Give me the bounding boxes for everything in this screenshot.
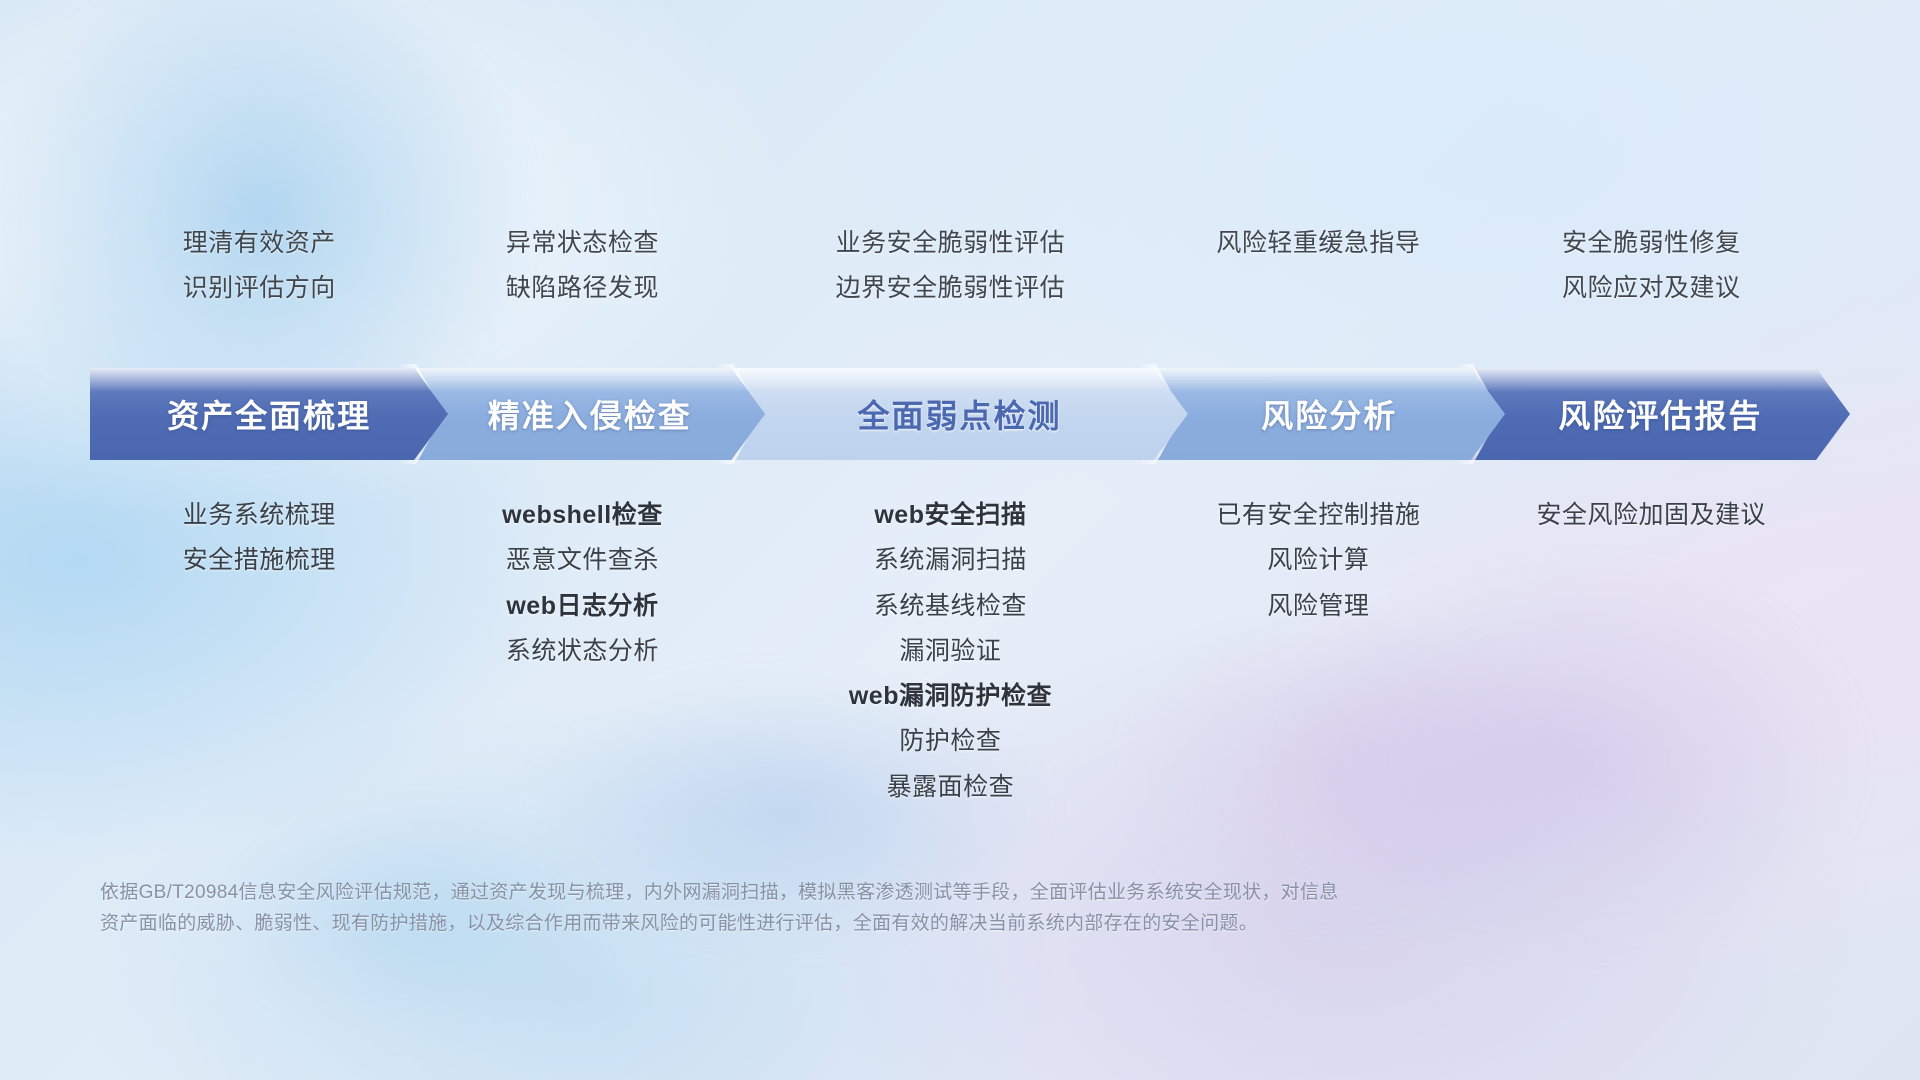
detail-list-item: 安全措施梳理 bbox=[183, 545, 336, 576]
detail-list-item: 恶意文件查杀 bbox=[506, 545, 659, 576]
detail-list-column: 安全风险加固及建议 bbox=[1478, 500, 1824, 531]
detail-list-column: 业务系统梳理安全措施梳理 bbox=[96, 500, 422, 577]
detail-list-item: 业务系统梳理 bbox=[183, 500, 336, 531]
detail-list-item: web漏洞防护检查 bbox=[849, 681, 1052, 712]
top-note-line: 理清有效资产 bbox=[183, 228, 336, 259]
footer-line-1: 依据GB/T20984信息安全风险评估规范，通过资产发现与梳理，内外网漏洞扫描，… bbox=[100, 878, 1640, 909]
top-note-line: 异常状态检查 bbox=[506, 228, 659, 259]
diagram-content: 理清有效资产识别评估方向异常状态检查缺陷路径发现业务安全脆弱性评估边界安全脆弱性… bbox=[0, 0, 1920, 1080]
detail-list-item: web日志分析 bbox=[506, 591, 658, 622]
detail-list-item: 系统漏洞扫描 bbox=[874, 545, 1027, 576]
detail-list-item: 已有安全控制措施 bbox=[1216, 500, 1420, 531]
process-stage-label: 风险评估报告 bbox=[1558, 391, 1762, 437]
process-stage-label: 精准入侵检查 bbox=[488, 391, 692, 437]
top-note-column: 业务安全脆弱性评估边界安全脆弱性评估 bbox=[742, 228, 1158, 305]
top-note-line: 识别评估方向 bbox=[183, 273, 336, 304]
detail-list-item: 暴露面检查 bbox=[887, 772, 1015, 803]
process-stage-1[interactable]: 资产全面梳理 bbox=[90, 368, 448, 460]
top-note-line: 边界安全脆弱性评估 bbox=[836, 273, 1066, 304]
top-note-line: 风险应对及建议 bbox=[1562, 273, 1741, 304]
detail-list-item: 系统基线检查 bbox=[874, 591, 1027, 622]
top-note-line: 安全脆弱性修复 bbox=[1562, 228, 1741, 259]
process-stage-2[interactable]: 精准入侵检查 bbox=[414, 368, 765, 460]
detail-list-column: web安全扫描系统漏洞扫描系统基线检查漏洞验证web漏洞防护检查防护检查暴露面检… bbox=[742, 500, 1158, 803]
detail-list-item: 系统状态分析 bbox=[506, 636, 659, 667]
process-stage-4[interactable]: 风险分析 bbox=[1154, 368, 1505, 460]
detail-list-item: webshell检查 bbox=[502, 500, 663, 531]
process-stage-3[interactable]: 全面弱点检测 bbox=[731, 368, 1187, 460]
top-note-column: 异常状态检查缺陷路径发现 bbox=[422, 228, 742, 305]
process-stage-label: 风险分析 bbox=[1261, 391, 1397, 437]
process-chevron-banner: 资产全面梳理精准入侵检查全面弱点检测风险分析风险评估报告 bbox=[90, 368, 1850, 460]
top-note-column: 安全脆弱性修复风险应对及建议 bbox=[1478, 228, 1824, 305]
footer-description: 依据GB/T20984信息安全风险评估规范，通过资产发现与梳理，内外网漏洞扫描，… bbox=[100, 878, 1640, 940]
top-note-line: 风险轻重缓急指导 bbox=[1216, 228, 1420, 259]
bottom-detail-lists: 业务系统梳理安全措施梳理webshell检查恶意文件查杀web日志分析系统状态分… bbox=[96, 500, 1824, 803]
detail-list-item: 防护检查 bbox=[899, 726, 1001, 757]
process-stage-label: 全面弱点检测 bbox=[857, 391, 1061, 437]
process-stage-5[interactable]: 风险评估报告 bbox=[1471, 368, 1850, 460]
top-notes-row: 理清有效资产识别评估方向异常状态检查缺陷路径发现业务安全脆弱性评估边界安全脆弱性… bbox=[96, 228, 1824, 305]
detail-list-item: 风险计算 bbox=[1267, 545, 1369, 576]
top-note-column: 风险轻重缓急指导 bbox=[1158, 228, 1478, 305]
detail-list-item: 安全风险加固及建议 bbox=[1536, 500, 1766, 531]
detail-list-column: webshell检查恶意文件查杀web日志分析系统状态分析 bbox=[422, 500, 742, 667]
top-note-line: 业务安全脆弱性评估 bbox=[836, 228, 1066, 259]
top-note-line: 缺陷路径发现 bbox=[506, 273, 659, 304]
detail-list-item: web安全扫描 bbox=[874, 500, 1026, 531]
slide-background: 理清有效资产识别评估方向异常状态检查缺陷路径发现业务安全脆弱性评估边界安全脆弱性… bbox=[0, 0, 1920, 1080]
process-stage-label: 资产全面梳理 bbox=[167, 391, 371, 437]
detail-list-item: 漏洞验证 bbox=[899, 636, 1001, 667]
detail-list-item: 风险管理 bbox=[1267, 591, 1369, 622]
detail-list-column: 已有安全控制措施风险计算风险管理 bbox=[1158, 500, 1478, 622]
footer-line-2: 资产面临的威胁、脆弱性、现有防护措施，以及综合作用而带来风险的可能性进行评估，全… bbox=[100, 909, 1640, 940]
top-note-column: 理清有效资产识别评估方向 bbox=[96, 228, 422, 305]
